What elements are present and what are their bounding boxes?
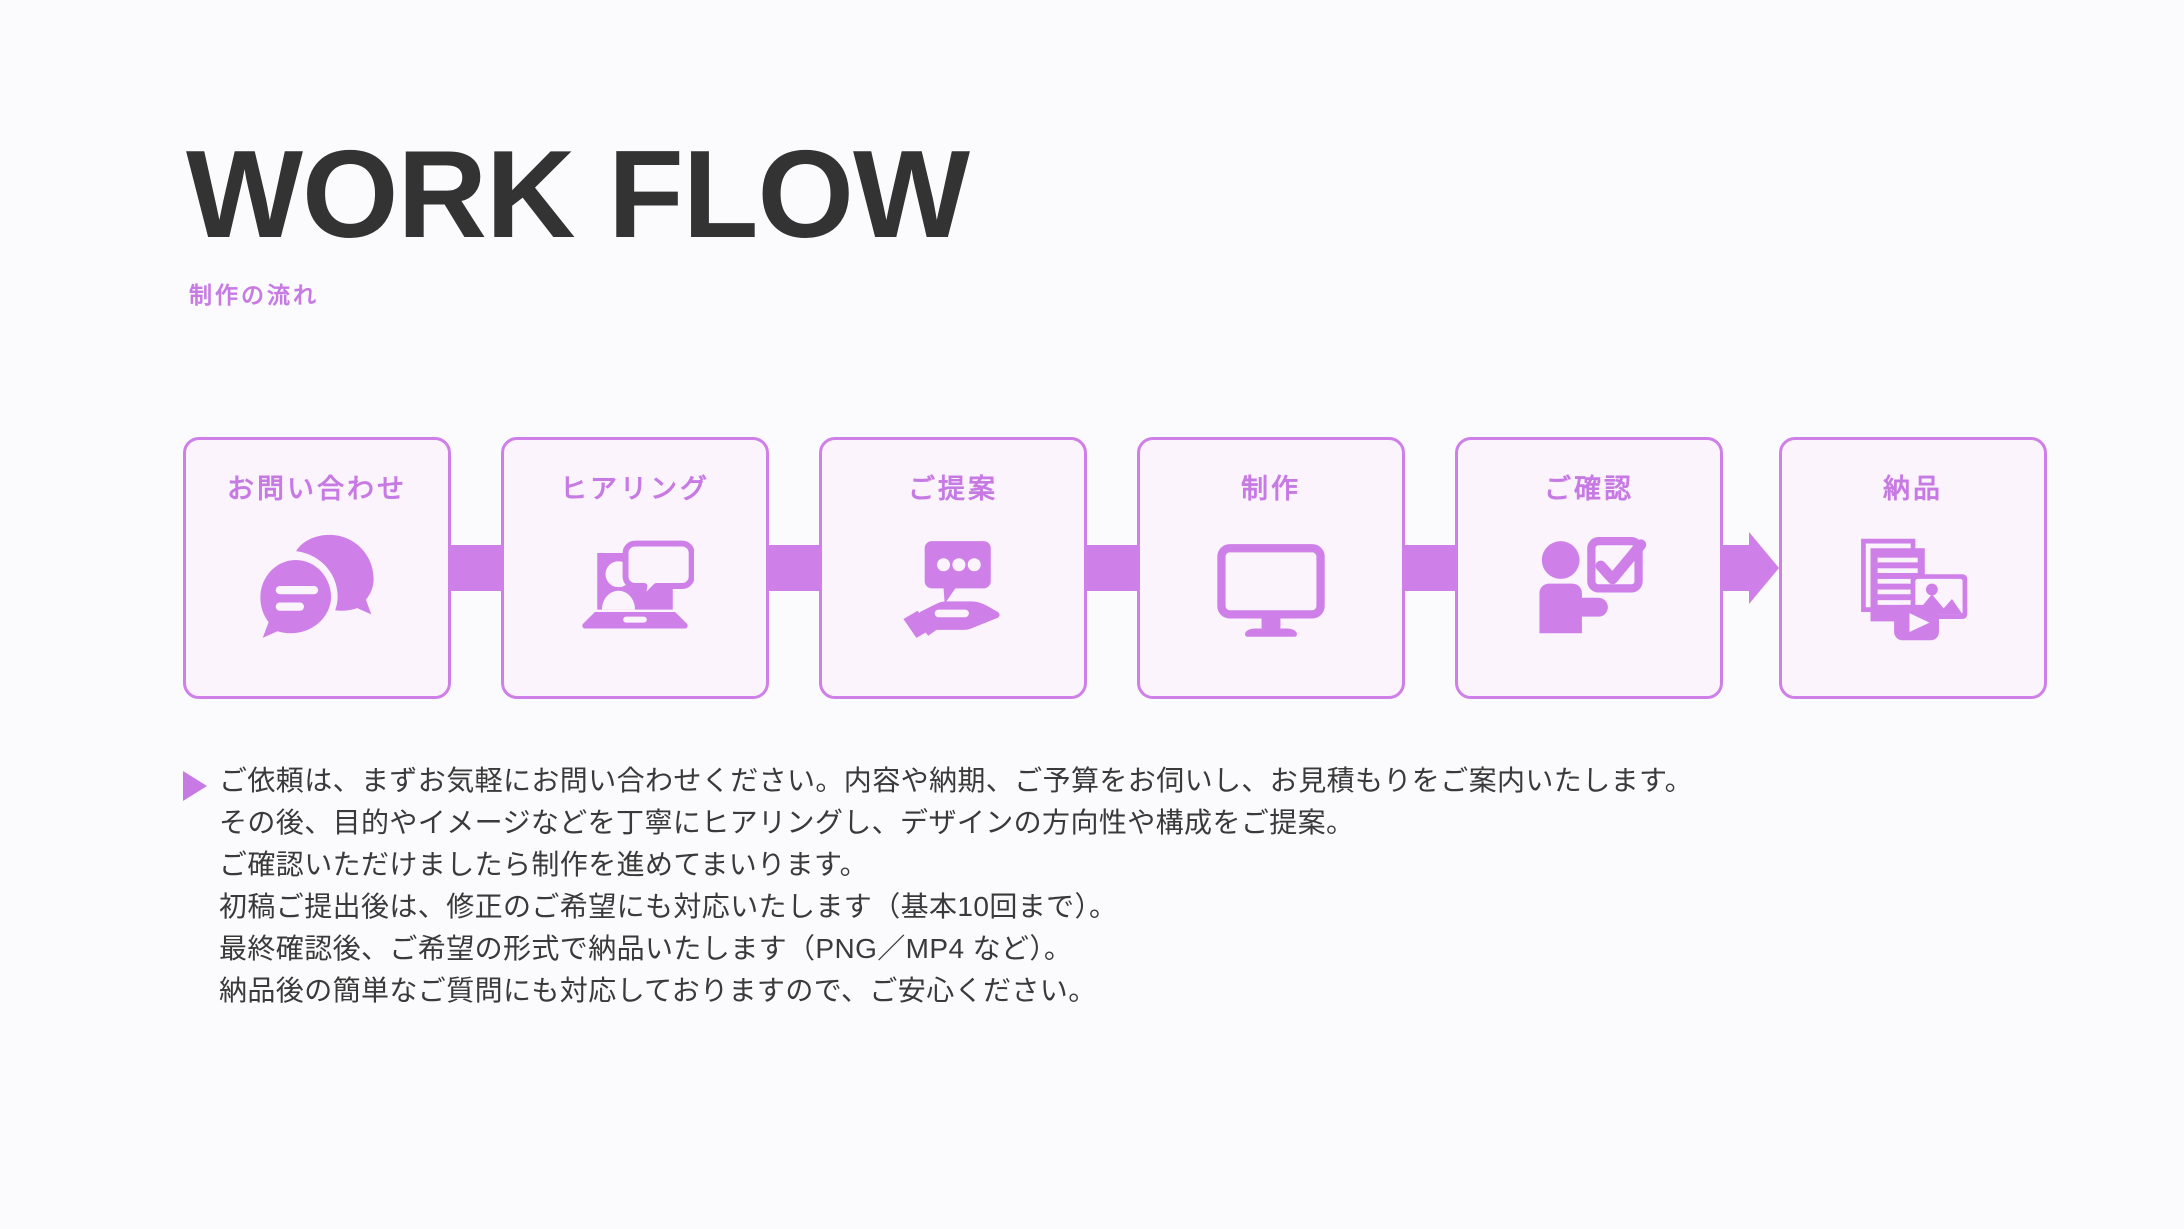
connector-bar: [769, 545, 819, 591]
arrow-head-icon: [1749, 532, 1779, 604]
flow-connector-5: [1723, 545, 1779, 591]
flow-step-label: お問い合わせ: [227, 467, 407, 506]
flow-connector-2: [769, 545, 819, 591]
flow-connector-4: [1405, 545, 1455, 591]
description-line: 初稿ご提出後は、修正のご希望にも対応いたします（基本10回まで）。: [219, 886, 1693, 928]
description-line: ご依頼は、まずお気軽にお問い合わせください。内容や納期、ご予算をお伺いし、お見積…: [219, 760, 1693, 802]
triangle-right-icon: [183, 771, 207, 801]
flow-step-production[interactable]: 制作: [1137, 437, 1405, 699]
laptop-person-speech-icon: [569, 520, 701, 652]
chat-bubbles-icon: [251, 520, 383, 652]
description-line: 納品後の簡単なご質問にも対応しておりますので、ご安心ください。: [219, 970, 1693, 1012]
flow-step-label: 制作: [1241, 467, 1301, 506]
flow-step-label: 納品: [1883, 467, 1943, 506]
workflow-steps: お問い合わせ ヒアリング: [183, 433, 2043, 703]
flow-step-label: ご確認: [1544, 467, 1634, 506]
monitor-icon: [1205, 520, 1337, 652]
flow-step-delivery[interactable]: 納品: [1779, 437, 2047, 699]
flow-connector-3: [1087, 545, 1137, 591]
page-title: WORK FLOW: [186, 130, 969, 260]
hand-speech-bubble-icon: [887, 520, 1019, 652]
person-checkbox-icon: [1523, 520, 1655, 652]
flow-connector-1: [451, 545, 501, 591]
page-subtitle: 制作の流れ: [189, 276, 969, 310]
connector-bar: [1405, 545, 1455, 591]
workflow-description: ご依頼は、まずお気軽にお問い合わせください。内容や納期、ご予算をお伺いし、お見積…: [183, 760, 1693, 1012]
flow-step-hearing[interactable]: ヒアリング: [501, 437, 769, 699]
flow-step-label: ヒアリング: [560, 467, 710, 506]
description-line: その後、目的やイメージなどを丁寧にヒアリングし、デザインの方向性や構成をご提案。: [219, 802, 1693, 844]
connector-bar: [451, 545, 501, 591]
description-line: 最終確認後、ご希望の形式で納品いたします（PNG／MP4 など）。: [219, 928, 1693, 970]
flow-step-label: ご提案: [908, 467, 998, 506]
page-header: WORK FLOW 制作の流れ: [186, 130, 969, 310]
documents-media-icon: [1847, 520, 1979, 652]
description-line: ご確認いただけましたら制作を進めてまいります。: [219, 844, 1693, 886]
flow-step-confirmation[interactable]: ご確認: [1455, 437, 1723, 699]
flow-step-proposal[interactable]: ご提案: [819, 437, 1087, 699]
connector-bar: [1723, 545, 1749, 591]
flow-step-inquiry[interactable]: お問い合わせ: [183, 437, 451, 699]
description-text: ご依頼は、まずお気軽にお問い合わせください。内容や納期、ご予算をお伺いし、お見積…: [219, 760, 1693, 1012]
connector-bar: [1087, 545, 1137, 591]
